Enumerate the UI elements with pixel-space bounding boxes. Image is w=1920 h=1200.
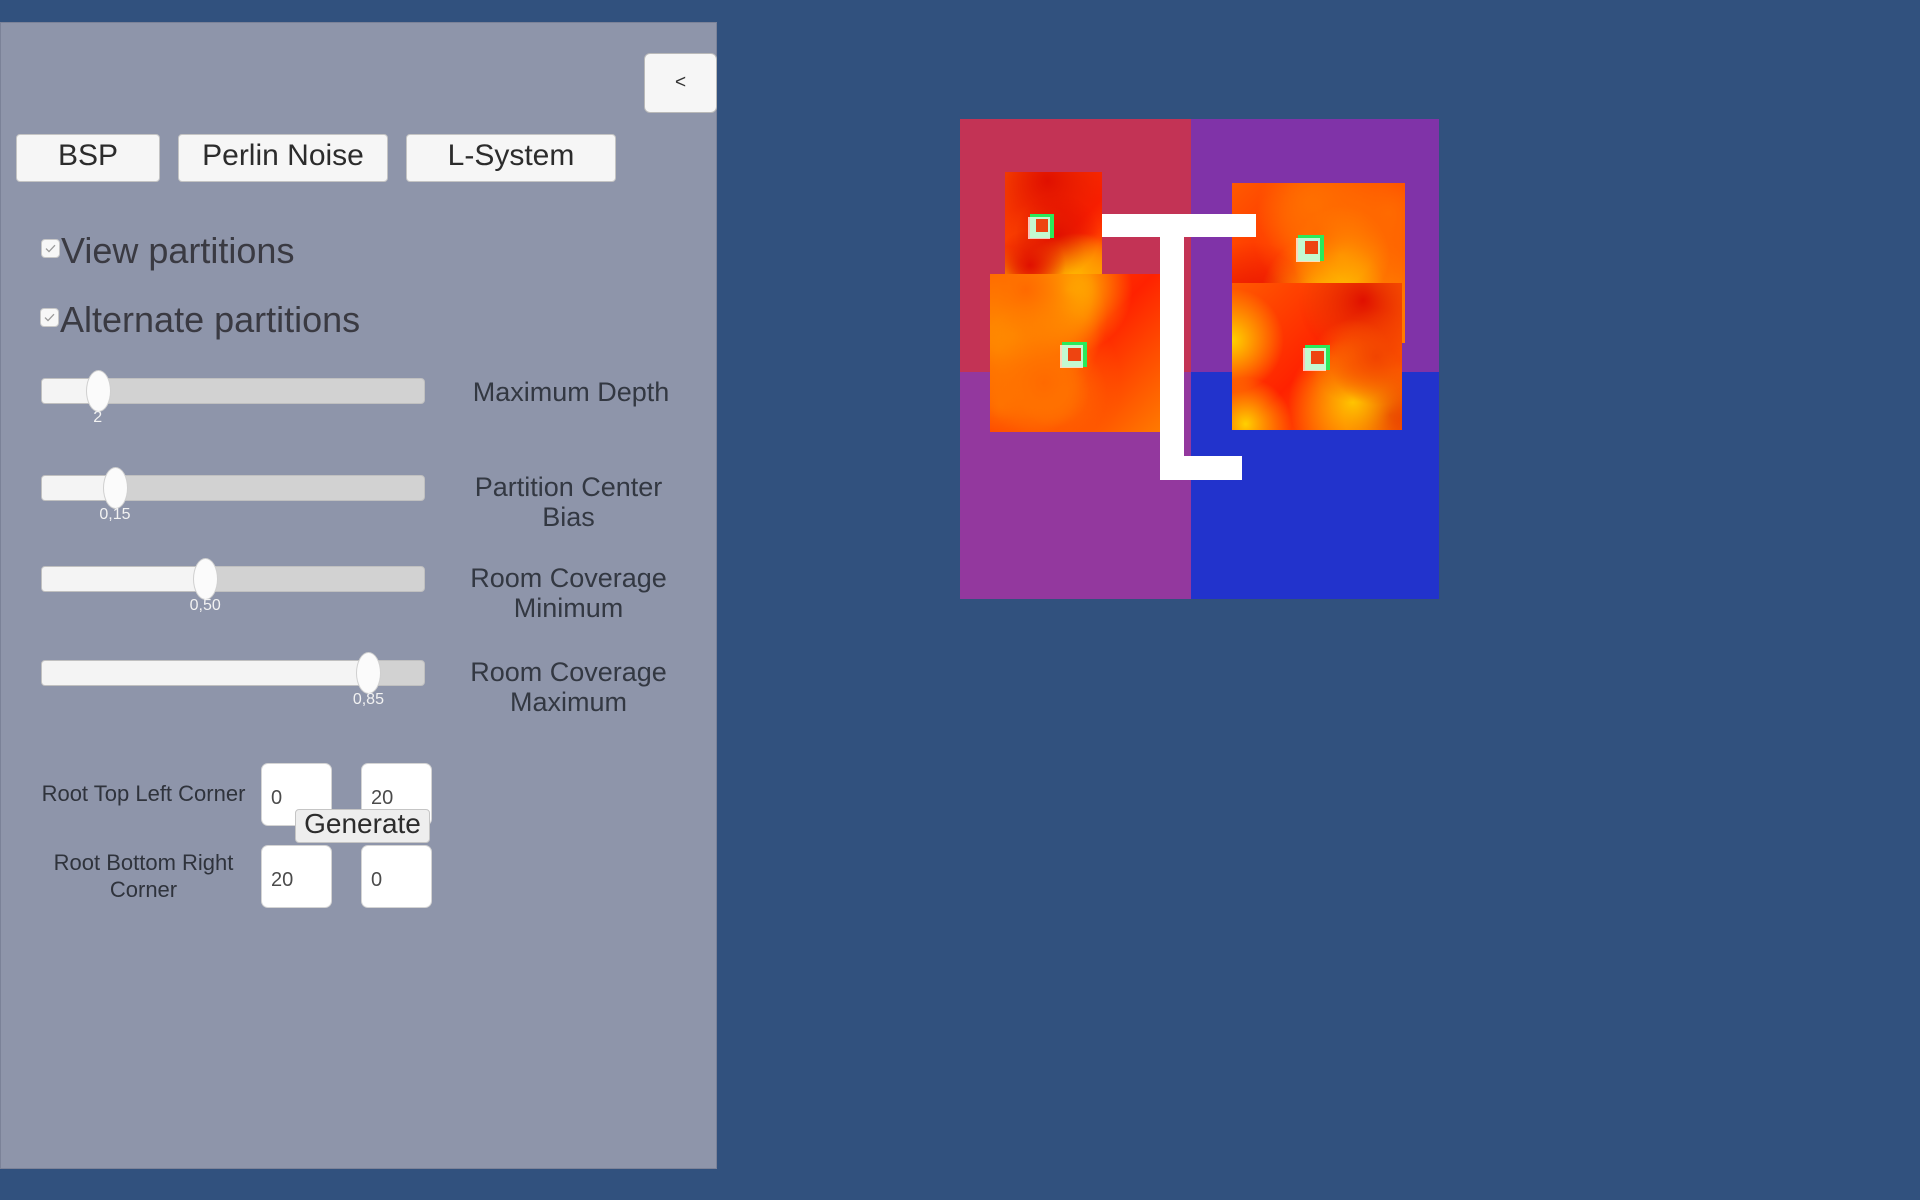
dungeon-map-canvas [960, 119, 1439, 599]
slider-label-partition-center-bias: Partition Center Bias [466, 473, 671, 532]
slider-row-room-coverage-maximum: 0,85 Room Coverage Maximum [41, 660, 425, 686]
slider-knob-room-coverage-minimum[interactable] [193, 558, 218, 600]
marker-core [1036, 219, 1048, 231]
room-center-marker [1305, 345, 1330, 370]
algorithm-tab-bar: BSP Perlin Noise L-System [16, 134, 616, 182]
room-center-marker [1062, 342, 1087, 367]
checkbox-view-partitions[interactable] [41, 239, 60, 258]
tab-l-system[interactable]: L-System [406, 134, 616, 182]
checkbox-row-view-partitions[interactable]: View partitions [41, 233, 294, 269]
checkbox-label-view-partitions: View partitions [61, 233, 294, 269]
label-root-bottom-right-corner: Root Bottom Right Corner [26, 850, 261, 903]
collapse-panel-button[interactable]: < [644, 53, 717, 113]
slider-label-room-coverage-minimum: Room Coverage Minimum [466, 564, 671, 623]
slider-track-partition-center-bias[interactable]: 0,15 [41, 475, 425, 501]
tab-perlin-noise[interactable]: Perlin Noise [178, 134, 388, 182]
slider-value-room-coverage-minimum: 0,50 [190, 597, 221, 615]
room-center-marker [1298, 235, 1324, 261]
slider-knob-room-coverage-maximum[interactable] [356, 652, 381, 694]
checkbox-label-alternate-partitions: Alternate partitions [60, 302, 360, 338]
room-center-marker [1030, 214, 1054, 238]
slider-value-maximum-depth: 2 [93, 409, 102, 427]
slider-knob-maximum-depth[interactable] [86, 370, 111, 412]
slider-row-room-coverage-minimum: 0,50 Room Coverage Minimum [41, 566, 425, 592]
marker-core [1068, 348, 1081, 361]
slider-value-room-coverage-maximum: 0,85 [353, 691, 384, 709]
slider-label-room-coverage-maximum: Room Coverage Maximum [466, 658, 671, 717]
slider-row-partition-center-bias: 0,15 Partition Center Bias [41, 475, 425, 501]
checkmark-icon [43, 311, 56, 324]
input-root-bottom-right-x[interactable] [261, 845, 332, 908]
slider-track-room-coverage-maximum[interactable]: 0,85 [41, 660, 425, 686]
slider-fill-room-coverage-minimum [42, 567, 205, 591]
slider-knob-partition-center-bias[interactable] [103, 467, 128, 509]
checkbox-row-alternate-partitions[interactable]: Alternate partitions [40, 302, 360, 338]
input-root-bottom-right-y[interactable] [361, 845, 432, 908]
checkbox-alternate-partitions[interactable] [40, 308, 59, 327]
room-bottom-right [1232, 283, 1402, 430]
slider-fill-room-coverage-maximum [42, 661, 368, 685]
slider-label-maximum-depth: Maximum Depth [446, 378, 696, 408]
chevron-left-icon: < [675, 72, 686, 94]
tab-bsp[interactable]: BSP [16, 134, 160, 182]
controls-panel: < BSP Perlin Noise L-System View partiti… [0, 22, 717, 1169]
checkmark-icon [44, 242, 57, 255]
corner-row-root-bottom-right: Root Bottom Right Corner [26, 845, 432, 908]
corridor-horizontal-bottom [1160, 456, 1242, 480]
slider-value-partition-center-bias: 0,15 [99, 506, 130, 524]
corridor-vertical-center [1160, 214, 1184, 479]
label-root-top-left-corner: Root Top Left Corner [26, 781, 261, 807]
room-bottom-left [990, 274, 1160, 432]
slider-row-maximum-depth: 2 Maximum Depth [41, 378, 425, 404]
marker-core [1305, 241, 1318, 255]
slider-track-room-coverage-minimum[interactable]: 0,50 [41, 566, 425, 592]
generate-button[interactable]: Generate [295, 809, 430, 843]
marker-core [1311, 351, 1324, 364]
slider-track-maximum-depth[interactable]: 2 [41, 378, 425, 404]
